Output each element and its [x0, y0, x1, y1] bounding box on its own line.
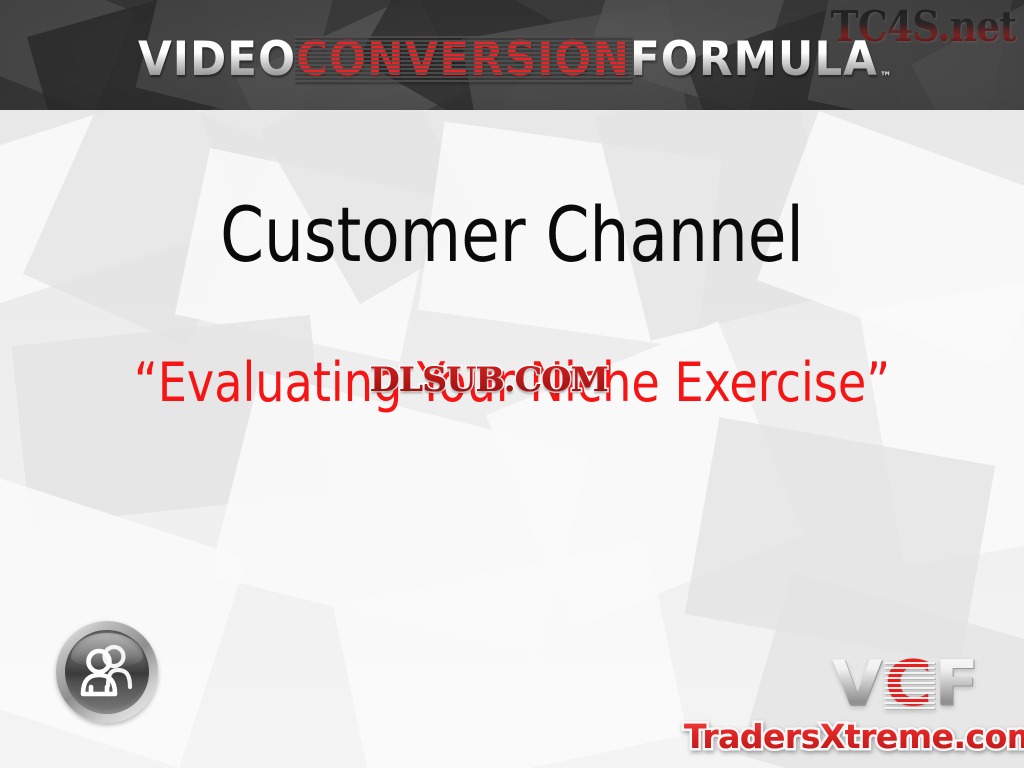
- vcf-letter-f: F: [934, 647, 981, 720]
- tx-fill: TradersXtreme.com: [684, 718, 1024, 756]
- brand-wordmark: VIDEO CONVERSION FORMULA ™: [138, 32, 893, 87]
- people-button-disc: [65, 630, 149, 714]
- vcf-letter-v: V: [832, 647, 884, 720]
- people-button[interactable]: [56, 621, 158, 723]
- brand-video: VIDEO: [138, 32, 296, 87]
- watermark-dlsub: DLSUB.COM DLSUB.COM: [370, 360, 608, 400]
- slide-canvas: VIDEO CONVERSION FORMULA ™ TC4S.net Cust…: [0, 0, 1024, 768]
- bg-shard: [0, 472, 247, 768]
- people-icon: [78, 644, 136, 700]
- site-logo-tradersxtreme[interactable]: TradersXtreme.com TradersXtreme.com: [684, 718, 1024, 756]
- header-banner: VIDEO CONVERSION FORMULA ™ TC4S.net: [0, 0, 1024, 110]
- brand-conversion: CONVERSION: [296, 32, 630, 87]
- vcf-letter-c: C: [884, 647, 934, 720]
- site-badge-tc4s[interactable]: TC4S.net: [831, 2, 1016, 51]
- page-title: Customer Channel: [41, 190, 983, 280]
- watermark-fill: DLSUB.COM: [370, 360, 608, 400]
- vcf-logo: VCF: [832, 652, 981, 716]
- trademark-symbol: ™: [880, 70, 893, 85]
